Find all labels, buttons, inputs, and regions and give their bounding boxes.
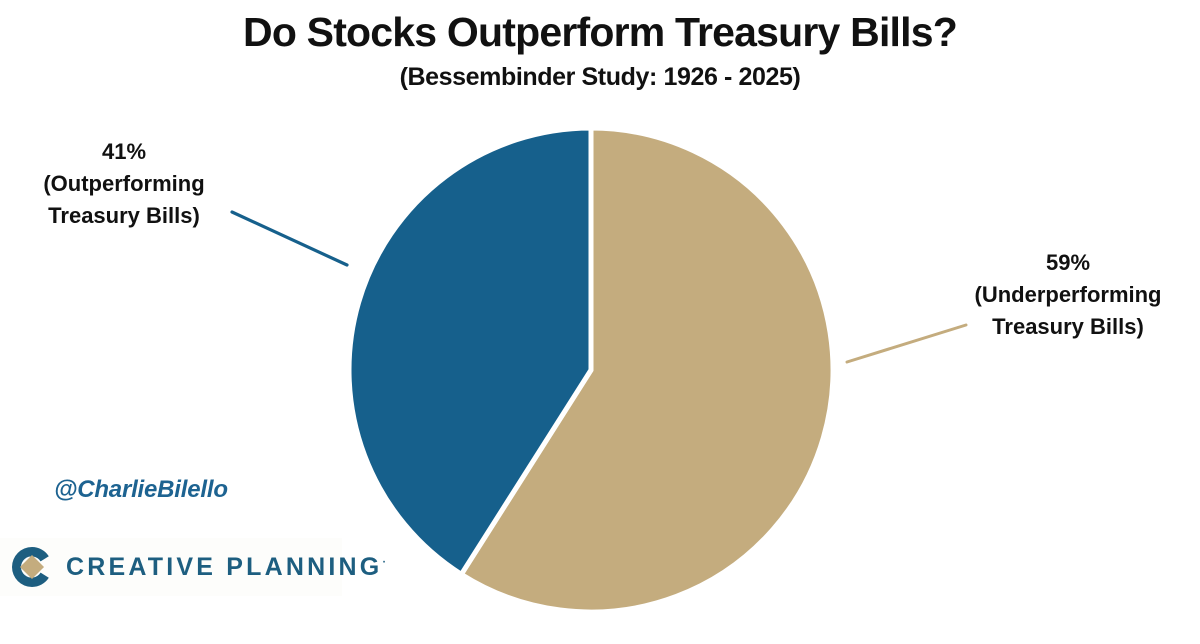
pie-slices — [349, 128, 833, 612]
pie-label-underperforming: 59% (Underperforming Treasury Bills) — [944, 247, 1192, 343]
leader-line-left — [232, 212, 347, 265]
pie-label-outperforming: 41% (Outperforming Treasury Bills) — [8, 136, 240, 232]
pie-label-right-line1: (Underperforming — [944, 279, 1192, 311]
pie-label-left-line1: (Outperforming — [8, 168, 240, 200]
creative-planning-c-diamond-mark — [10, 545, 54, 589]
creative-planning-logo: CREATIVE PLANNING· — [0, 538, 342, 596]
logo-wordmark-text: CREATIVE PLANNING — [66, 553, 382, 581]
logo-trademark-symbol: · — [382, 556, 386, 568]
pie-label-right-line2: Treasury Bills) — [944, 311, 1192, 343]
pie-label-left-percent: 41% — [8, 136, 240, 168]
pie-label-right-percent: 59% — [944, 247, 1192, 279]
chart-page: Do Stocks Outperform Treasury Bills? (Be… — [0, 0, 1200, 644]
logo-wordmark: CREATIVE PLANNING· — [66, 553, 386, 582]
author-handle[interactable]: @CharlieBilello — [54, 476, 228, 504]
pie-label-left-line2: Treasury Bills) — [8, 200, 240, 232]
